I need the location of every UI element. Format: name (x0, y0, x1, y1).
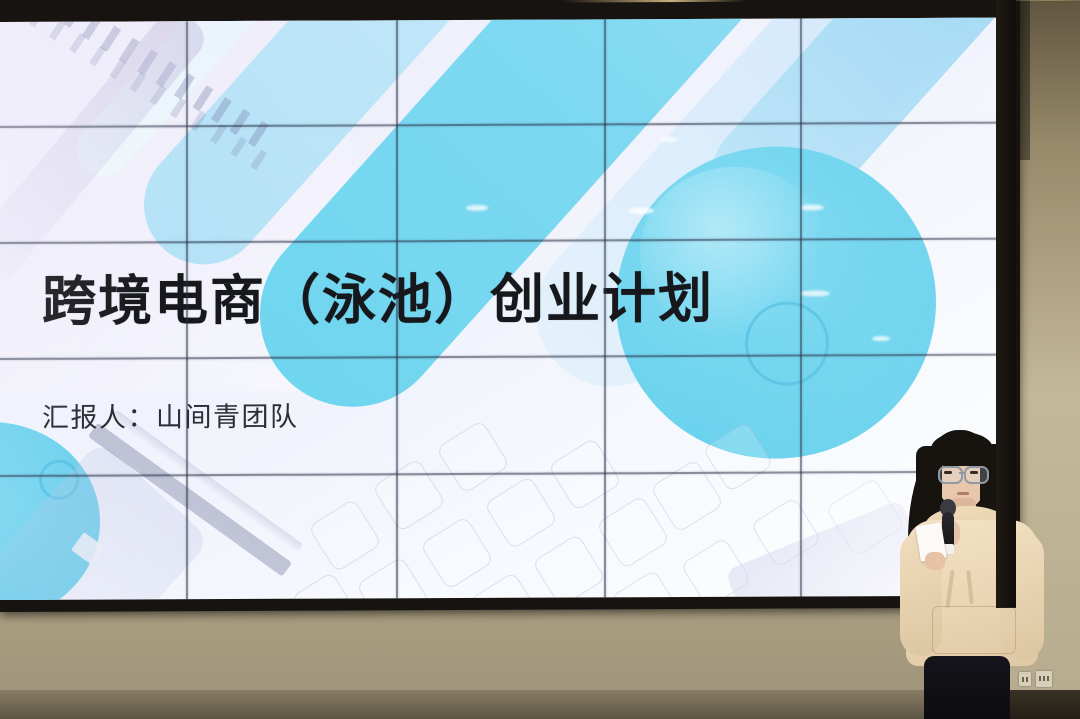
keyboard-key (610, 569, 682, 600)
presenter-glasses-bridge (959, 472, 964, 474)
keyboard-key (548, 437, 622, 511)
circle-outline-right (745, 301, 829, 385)
keyboard-key (650, 459, 724, 533)
keyboard-key (468, 572, 542, 600)
presenter (880, 420, 1080, 719)
keyboard-key (372, 458, 446, 532)
presenter-pants (924, 656, 1010, 719)
keyboard-key (436, 420, 510, 494)
slide-title: 跨境电商（泳池）创业计划 (42, 269, 714, 332)
keyboard-key (532, 533, 606, 600)
presenter-eye-right (970, 471, 978, 474)
presenter-hoodie-pocket (932, 606, 1016, 654)
keyboard-key (308, 498, 382, 572)
video-wall-seam-v-2 (396, 20, 398, 598)
keyboard-key (356, 556, 430, 600)
video-wall-seam-v-3 (604, 19, 606, 597)
video-wall-seam-v-1 (186, 21, 188, 599)
screen-speck (660, 137, 678, 142)
wall-floor-shadow (0, 690, 1010, 719)
keyboard-key (291, 571, 357, 600)
presenter-mouth (957, 492, 969, 495)
video-wall-bezel: 跨境电商（泳池）创业计划 汇报人：山间青团队 (0, 0, 1020, 612)
screen-speck (872, 336, 890, 341)
presenter-eye-left (944, 471, 952, 474)
keyboard-key (596, 495, 670, 569)
presenter-hand-notes (925, 552, 945, 570)
keyboard-key (420, 516, 494, 590)
presenter-glasses-left-lens (938, 466, 963, 484)
video-wall-seam-v-4 (800, 19, 802, 597)
video-wall-right-bezel (996, 0, 1016, 608)
video-wall-screen: 跨境电商（泳池）创业计划 汇报人：山间青团队 (0, 18, 998, 600)
screenshot-root: 跨境电商（泳池）创业计划 汇报人：山间青团队 (0, 0, 1080, 719)
slide-subtitle: 汇报人：山间青团队 (42, 400, 299, 435)
presenter-glasses-right-lens (964, 466, 989, 484)
keyboard-key (484, 475, 558, 549)
